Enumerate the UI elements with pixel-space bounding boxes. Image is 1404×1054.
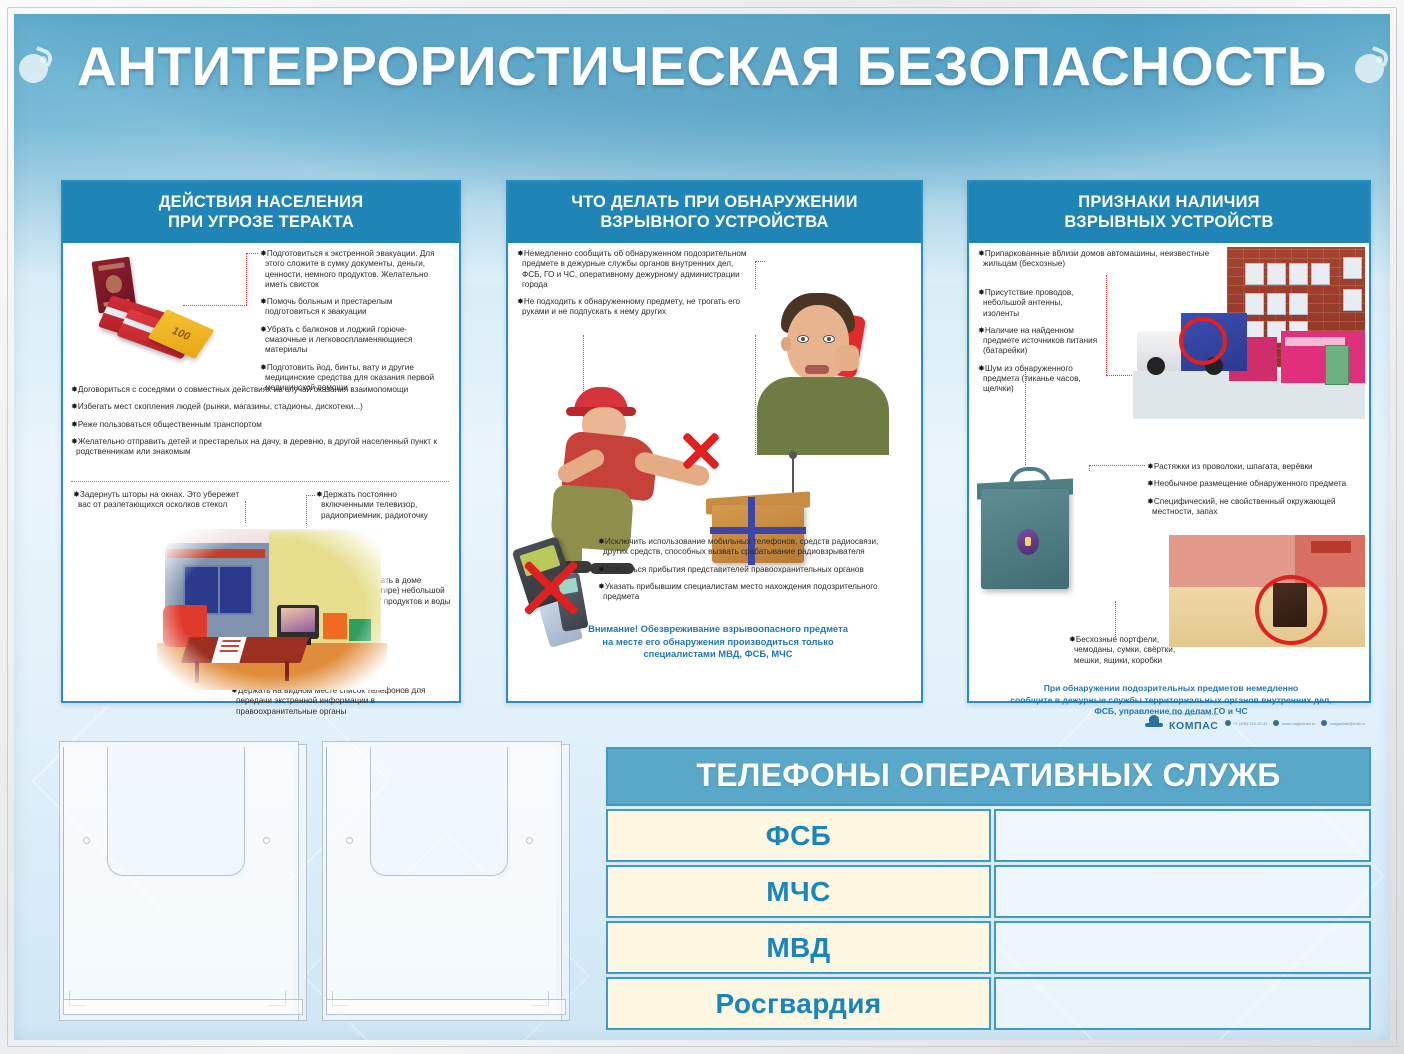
bullet-item: ✸Убрать с балконов и лоджий горюче-смазо…: [260, 325, 444, 356]
warning-line-3: специалистами МВД, ФСБ, МЧС: [528, 648, 908, 661]
living-room-illustration: [157, 525, 387, 690]
table-row: Росгвардия: [606, 977, 1371, 1030]
panel-3-bag-bullet: ✸Бесхозные портфели, чемоданы, сумки, св…: [1069, 635, 1194, 673]
panel-2-warning: Внимание! Обезвреживание взрывоопасного …: [528, 623, 908, 661]
service-number-mvd[interactable]: [994, 921, 1371, 974]
panel-actions-under-threat: ДЕЙСТВИЯ НАСЕЛЕНИЯ ПРИ УГРОЗЕ ТЕРАКТА 10…: [61, 180, 461, 703]
mounting-hole: [263, 837, 270, 844]
service-name-mvd: МВД: [606, 921, 991, 974]
bullet-item: ✸Присутствие проводов, небольшой антенны…: [978, 288, 1098, 319]
panel-2-bullet-1: ✸Немедленно сообщить об обнаруженном под…: [517, 249, 755, 297]
room-note-bottom: ✸Держать на видном месте список телефоно…: [231, 686, 449, 724]
section-divider: [71, 481, 449, 482]
bullet-item: ✸Помочь больным и престарелым подготовит…: [260, 297, 444, 318]
information-board: АНТИТЕРРОРИСТИЧЕСКАЯ БЕЗОПАСНОСТЬ ДЕЙСТВ…: [0, 0, 1404, 1054]
leader-line: [1106, 275, 1107, 375]
bomb-icon: [1353, 49, 1387, 83]
publisher-brand: магазин визуальной среды КОМПАС: [1169, 713, 1219, 732]
bullet-item: ✸Растяжки из проволоки, шпагата, верёвки: [1147, 462, 1363, 472]
panel-1-top-bullets: ✸Подготовиться к экстренной эвакуации. Д…: [260, 249, 444, 401]
bomb-icon: [17, 49, 51, 83]
board-title-bar: АНТИТЕРРОРИСТИЧЕСКАЯ БЕЗОПАСНОСТЬ: [14, 14, 1390, 118]
panel-3-title-line-1: ПРИЗНАКИ НАЛИЧИЯ: [975, 192, 1363, 212]
man-calling-police-illustration: [743, 291, 903, 451]
warning-line-1: При обнаружении подозрительных предметов…: [981, 683, 1361, 695]
panel-3-header: ПРИЗНАКИ НАЛИЧИЯ ВЗРЫВНЫХ УСТРОЙСТВ: [969, 182, 1369, 243]
prohibition-cross-icon: [678, 428, 724, 474]
bullet-item: ✸Реже пользоваться общественным транспор…: [71, 420, 449, 430]
pocket-base: [326, 999, 566, 1015]
warning-line-2: сообщите в дежурные службы территориальн…: [981, 695, 1361, 707]
warning-line-1: Внимание! Обезвреживание взрывоопасного …: [528, 623, 908, 636]
bullet-item: ✸Держать на видном месте список телефоно…: [231, 686, 449, 717]
panel-2-title-line-2: ВЗРЫВНОГО УСТРОЙСТВА: [514, 212, 915, 232]
bullet-item: ✸Избегать мест скопления людей (рынки, м…: [71, 402, 449, 412]
room-note-right: ✸Держать постоянно включенными телевизор…: [316, 490, 451, 528]
leaflet-pocket[interactable]: [322, 741, 570, 1026]
bullet-item: ✸Шум из обнаруженного предмета (тиканье …: [978, 364, 1098, 395]
publisher-logo-strip: магазин визуальной среды КОМПАС +7 (495)…: [1145, 712, 1373, 734]
panel-1-body: 100 ✸Подготовиться к экстренной эвакуаци…: [63, 243, 459, 701]
bullet-item: ✸Необычное размещение обнаруженного пред…: [1147, 479, 1363, 489]
highlight-circle: [1255, 575, 1327, 645]
board-surface: АНТИТЕРРОРИСТИЧЕСКАЯ БЕЗОПАСНОСТЬ ДЕЙСТВ…: [14, 14, 1390, 1040]
abandoned-briefcase-illustration: [1169, 535, 1365, 647]
globe-icon: [1273, 720, 1279, 726]
bullet-item: ✸Указать прибывшим специалистам место на…: [598, 582, 898, 603]
publisher-supertext: магазин визуальной среды: [1169, 713, 1219, 716]
highlight-circle: [1179, 317, 1227, 365]
leader-line: [755, 261, 756, 289]
mounting-hole: [346, 837, 353, 844]
pocket-base: [63, 999, 303, 1015]
parked-truck-near-building-illustration: [1133, 247, 1365, 419]
bullet-item: ✸Желательно отправить детей и престарелы…: [71, 437, 449, 458]
service-name-rosgvardia: Росгвардия: [606, 977, 991, 1030]
bullet-item: ✸Держать постоянно включенными телевизор…: [316, 490, 451, 521]
leader-line: [306, 495, 315, 496]
table-row: МЧС: [606, 865, 1371, 918]
panel-1-wide-bullets: ✸Договориться с соседями о совместных де…: [71, 385, 449, 464]
leader-line: [755, 261, 765, 262]
leader-line: [1089, 465, 1090, 471]
bullet-item: ✸Бесхозные портфели, чемоданы, сумки, св…: [1069, 635, 1194, 666]
service-name-mchs: МЧС: [606, 865, 991, 918]
bullet-item: ✸Исключить использование мобильных телеф…: [598, 537, 898, 558]
mounting-hole: [526, 837, 533, 844]
publisher-website[interactable]: www.magazinall.ru: [1273, 720, 1315, 726]
pocket-cutout: [370, 747, 508, 876]
pocket-cutout: [107, 747, 245, 876]
leaflet-pocket[interactable]: [59, 741, 307, 1026]
panel-3-left-bullets: ✸Присутствие проводов, небольшой антенны…: [978, 288, 1098, 402]
service-number-mchs[interactable]: [994, 865, 1371, 918]
service-name-fsb: ФСБ: [606, 809, 991, 862]
table-row: МВД: [606, 921, 1371, 974]
bullet-item: ✸Не подходить к обнаруженному предмету, …: [517, 297, 755, 318]
phone-icon: [1225, 720, 1231, 726]
compass-logo-icon: [1145, 715, 1163, 731]
bullet-item: ✸Немедленно сообщить об обнаруженном под…: [517, 249, 755, 290]
panel-1-header: ДЕЙСТВИЯ НАСЕЛЕНИЯ ПРИ УГРОЗЕ ТЕРАКТА: [63, 182, 459, 243]
leader-line: [1089, 465, 1145, 466]
page-title: АНТИТЕРРОРИСТИЧЕСКАЯ БЕЗОПАСНОСТЬ: [77, 34, 1327, 98]
bullet-item: ✸Наличие на найденном предмете источнико…: [978, 326, 1098, 357]
phones-table-title: ТЕЛЕФОНЫ ОПЕРАТИВНЫХ СЛУЖБ: [606, 747, 1371, 806]
unattended-bag-illustration: [975, 467, 1085, 597]
publisher-email[interactable]: magazinall@mail.ru: [1321, 720, 1365, 726]
room-note-left: ✸Задернуть шторы на окнах. Это убережет …: [73, 490, 253, 518]
leader-line: [247, 253, 258, 254]
panel-1-title-line-2: ПРИ УГРОЗЕ ТЕРАКТА: [69, 212, 453, 232]
service-number-rosgvardia[interactable]: [994, 977, 1371, 1030]
panel-3-title-line-2: ВЗРЫВНЫХ УСТРОЙСТВ: [975, 212, 1363, 232]
panel-2-bullet-2: ✸Не подходить к обнаруженному предмету, …: [517, 297, 755, 325]
panel-2-bottom-bullets: ✸Исключить использование мобильных телеф…: [598, 537, 898, 609]
publisher-name: КОМПАС: [1169, 720, 1218, 732]
panel-3-right-bullets: ✸Растяжки из проволоки, шпагата, верёвки…: [1147, 462, 1363, 524]
prohibition-cross-icon: [516, 553, 586, 623]
panel-signs-of-explosives: ПРИЗНАКИ НАЛИЧИЯ ВЗРЫВНЫХ УСТРОЙСТВ ✸При…: [967, 180, 1371, 703]
emergency-phones-table: ТЕЛЕФОНЫ ОПЕРАТИВНЫХ СЛУЖБ ФСБ МЧС МВД Р…: [606, 747, 1371, 1029]
publisher-phone: +7 (495) 215-32-41: [1225, 720, 1268, 726]
bullet-item: ✸Договориться с соседями о совместных де…: [71, 385, 449, 395]
panel-2-body: ✸Немедленно сообщить об обнаруженном под…: [508, 243, 921, 701]
panel-2-header: ЧТО ДЕЛАТЬ ПРИ ОБНАРУЖЕНИИ ВЗРЫВНОГО УСТ…: [508, 182, 921, 243]
panel-2-title-line-1: ЧТО ДЕЛАТЬ ПРИ ОБНАРУЖЕНИИ: [514, 192, 915, 212]
mounting-hole: [83, 837, 90, 844]
television-icon: [277, 605, 319, 639]
panel-what-to-do-on-discovery: ЧТО ДЕЛАТЬ ПРИ ОБНАРУЖЕНИИ ВЗРЫВНОГО УСТ…: [506, 180, 923, 703]
panel-1-title-line-1: ДЕЙСТВИЯ НАСЕЛЕНИЯ: [69, 192, 453, 212]
bullet-item: ✸Дождаться прибытия представителей право…: [598, 565, 898, 575]
passport-and-money-illustration: 100: [81, 257, 221, 367]
panel-3-body: ✸Припаркованные вблизи домов автомашины,…: [969, 243, 1369, 701]
service-number-fsb[interactable]: [994, 809, 1371, 862]
warning-line-2: на месте его обнаружения производиться т…: [528, 636, 908, 649]
leader-line: [246, 253, 247, 305]
bullet-item: ✸Подготовиться к экстренной эвакуации. Д…: [260, 249, 444, 290]
bullet-item: ✸Задернуть шторы на окнах. Это убережет …: [73, 490, 253, 511]
leader-line: [1115, 601, 1116, 637]
table-row: ФСБ: [606, 809, 1371, 862]
bullet-item: ✸Специфический, не свойственный окружающ…: [1147, 497, 1363, 518]
envelope-icon: [1321, 720, 1327, 726]
